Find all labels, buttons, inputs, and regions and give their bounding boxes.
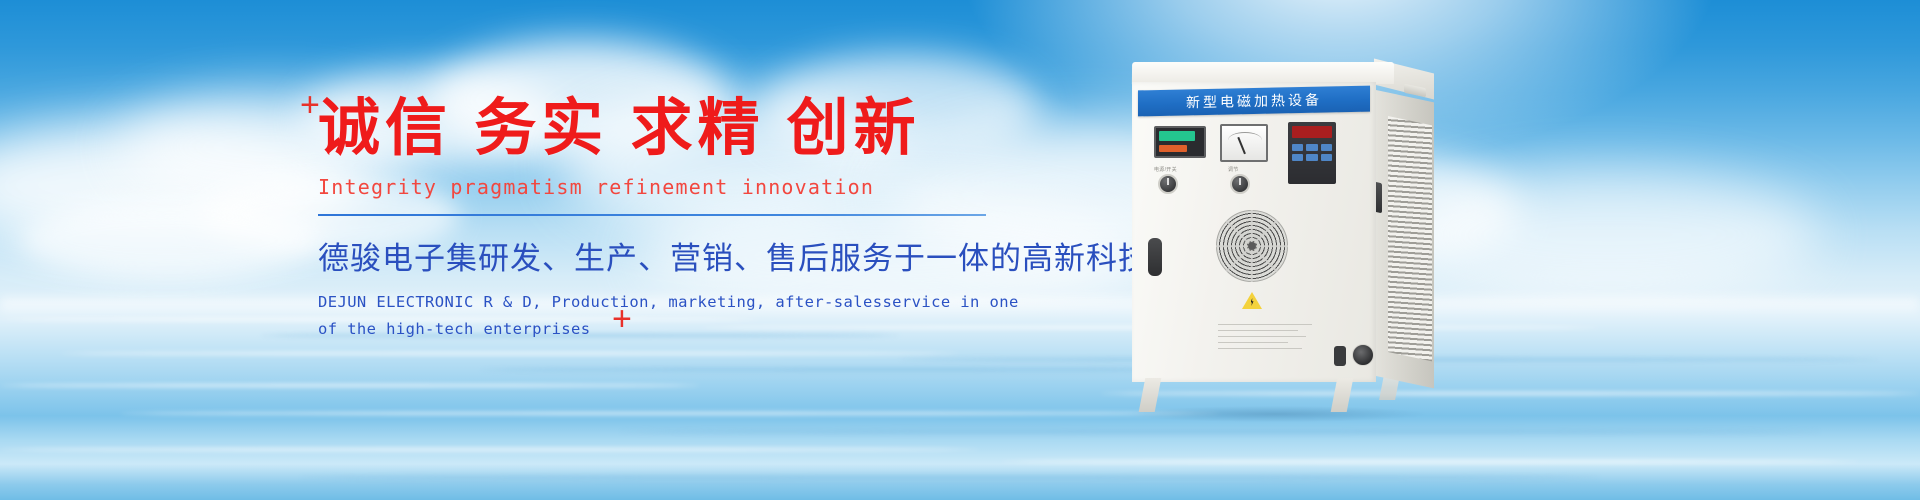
- promotional-banner: + + 诚信 务实 求精 创新 Integrity pragmatism ref…: [0, 0, 1920, 500]
- description-english-line2: of the high-tech enterprises: [318, 316, 1078, 343]
- product-image-heating-equipment: 新型电磁加热设备 电源/开关 调节: [1120, 62, 1450, 422]
- plus-decoration-top: +: [300, 88, 320, 122]
- power-outlet-secondary-icon: [1334, 346, 1346, 366]
- machine-top-panel: [1132, 62, 1394, 84]
- power-outlet-icon: [1352, 344, 1374, 366]
- selector-knob-left-icon: [1158, 174, 1178, 194]
- headline-english: Integrity pragmatism refinement innovati…: [318, 175, 1078, 199]
- banner-copy-block: 诚信 务实 求精 创新 Integrity pragmatism refinem…: [318, 96, 1078, 343]
- product-panel-label: 新型电磁加热设备: [1138, 86, 1370, 117]
- analog-meter-icon: [1220, 124, 1268, 162]
- high-voltage-warning-icon: [1242, 292, 1262, 309]
- cooling-fan-grille-icon: [1216, 210, 1288, 282]
- knob-left-caption: 电源/开关: [1154, 166, 1177, 173]
- subtitle-chinese: 德骏电子集研发、生产、营销、售后服务于一体的高新科技企业: [318, 233, 1078, 278]
- selector-knob-right-icon: [1230, 174, 1250, 194]
- description-english-line1: DEJUN ELECTRONIC R & D, Production, mark…: [318, 289, 1078, 316]
- spec-text-lines: [1218, 324, 1314, 354]
- digital-display-icon: [1154, 126, 1206, 158]
- control-keypad-icon: [1288, 122, 1336, 184]
- machine-ground-shadow: [1126, 406, 1426, 422]
- knob-right-caption: 调节: [1228, 166, 1239, 173]
- headline-chinese: 诚信 务实 求精 创新: [318, 96, 1078, 163]
- ventilation-louvers-icon: [1388, 116, 1432, 361]
- divider-line: [318, 214, 986, 216]
- front-port-icon: [1148, 238, 1162, 276]
